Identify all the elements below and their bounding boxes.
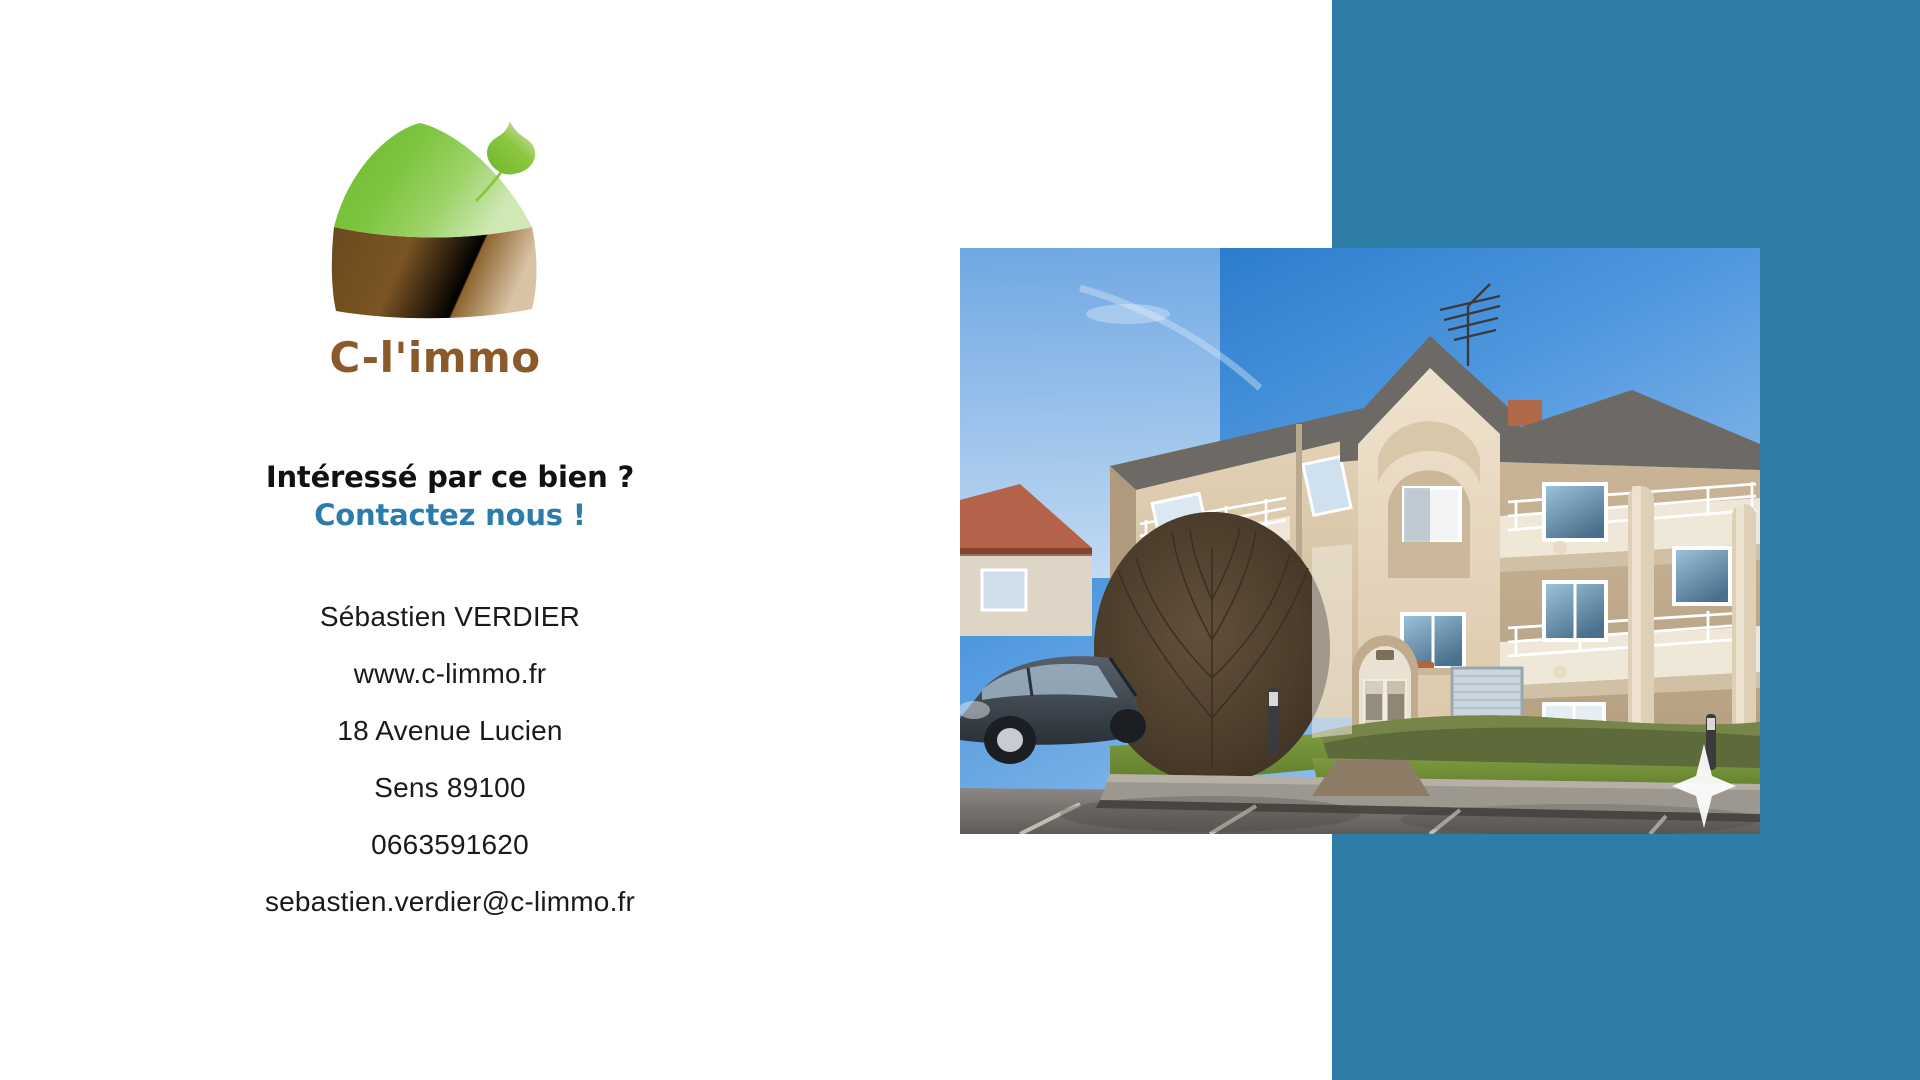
contact-slide: C-l'immo Intéressé par ce bien ? Contact… bbox=[0, 0, 1920, 1080]
contact-website[interactable]: www.c-limmo.fr bbox=[0, 645, 900, 702]
logo-leaf-shape bbox=[487, 121, 535, 175]
left-content-column: C-l'immo Intéressé par ce bien ? Contact… bbox=[0, 0, 900, 1080]
contact-details: Sébastien VERDIER www.c-limmo.fr 18 Aven… bbox=[0, 588, 900, 930]
headline-cta: Contactez nous ! bbox=[0, 496, 900, 534]
chestnut-logo-icon bbox=[290, 115, 580, 345]
brand-logo[interactable]: C-l'immo bbox=[290, 115, 580, 395]
contact-phone[interactable]: 0663591620 bbox=[0, 816, 900, 873]
contact-city: Sens 89100 bbox=[0, 759, 900, 816]
property-photo[interactable] bbox=[960, 248, 1760, 834]
headline-question: Intéressé par ce bien ? bbox=[0, 458, 900, 496]
contact-email[interactable]: sebastien.verdier@c-limmo.fr bbox=[0, 873, 900, 930]
contact-street: 18 Avenue Lucien bbox=[0, 702, 900, 759]
logo-shell-shape bbox=[332, 227, 537, 318]
property-photo-illustration bbox=[960, 248, 1760, 834]
headline: Intéressé par ce bien ? Contactez nous ! bbox=[0, 458, 900, 534]
logo-wordmark: C-l'immo bbox=[290, 333, 580, 382]
contact-agent-name: Sébastien VERDIER bbox=[0, 588, 900, 645]
